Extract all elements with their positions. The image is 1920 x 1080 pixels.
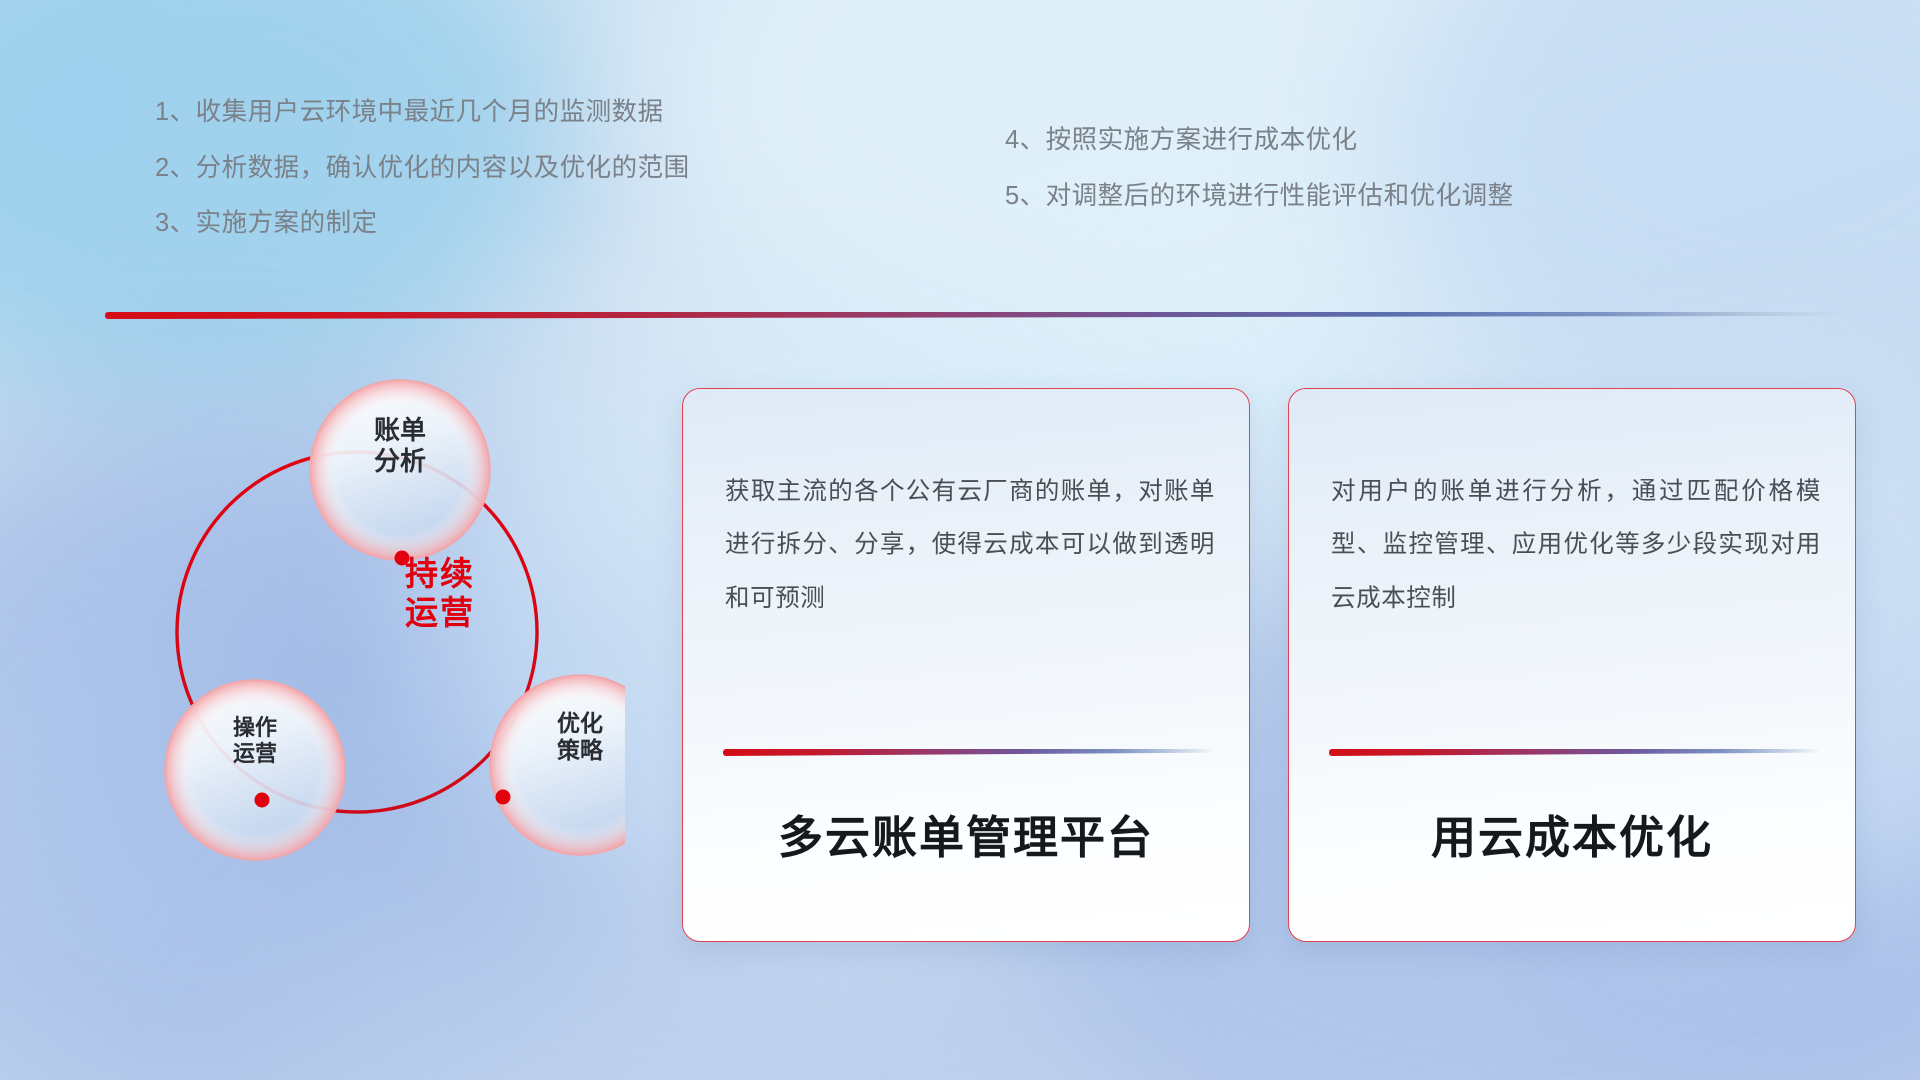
card-title: 用云成本优化	[1289, 801, 1855, 866]
step-item: 2、分析数据，确认优化的内容以及优化的范围	[155, 156, 690, 182]
steps-list-right: 4、按照实施方案进行成本优化 5、对调整后的环境进行性能评估和优化调整	[1005, 128, 1514, 239]
venn-label-strategy: 优化 策略	[515, 710, 645, 764]
venn-center-label-line2: 运营	[360, 594, 520, 633]
venn-bubble-strategy-halo	[490, 675, 625, 855]
venn-node-dot-left	[255, 793, 270, 808]
card-divider	[1329, 749, 1821, 756]
venn-center-label: 持续 运营	[360, 555, 520, 633]
steps-list-left: 1、收集用户云环境中最近几个月的监测数据 2、分析数据，确认优化的内容以及优化的…	[155, 100, 690, 267]
venn-label-strategy-line2: 策略	[515, 737, 645, 764]
slide-canvas: 1、收集用户云环境中最近几个月的监测数据 2、分析数据，确认优化的内容以及优化的…	[0, 0, 1920, 1080]
card-divider	[723, 749, 1215, 756]
card-title: 多云账单管理平台	[683, 801, 1249, 866]
venn-label-ops-line2: 运营	[190, 741, 320, 767]
card-multicloud-billing[interactable]: 获取主流的各个公有云厂商的账单，对账单进行拆分、分享，使得云成本可以做到透明和可…	[682, 388, 1250, 942]
venn-diagram: 账单 分析 操作 运营 优化 策略 持续 运营	[95, 340, 625, 960]
card-body-text: 对用户的账单进行分析，通过匹配价格模型、监控管理、应用优化等多少段实现对用云成本…	[1331, 465, 1821, 625]
venn-center-label-line1: 持续	[360, 555, 520, 594]
step-item: 4、按照实施方案进行成本优化	[1005, 128, 1514, 154]
venn-bubble-ops-halo	[165, 680, 345, 860]
card-cost-optimization[interactable]: 对用户的账单进行分析，通过匹配价格模型、监控管理、应用优化等多少段实现对用云成本…	[1288, 388, 1856, 942]
section-divider	[105, 312, 1845, 319]
venn-label-ops-line1: 操作	[190, 715, 320, 741]
step-item: 1、收集用户云环境中最近几个月的监测数据	[155, 100, 690, 126]
venn-label-bill: 账单 分析	[335, 415, 465, 476]
venn-label-ops: 操作 运营	[190, 715, 320, 767]
step-item: 5、对调整后的环境进行性能评估和优化调整	[1005, 184, 1514, 210]
venn-node-dot-right	[496, 790, 511, 805]
step-item: 3、实施方案的制定	[155, 211, 690, 237]
card-body-text: 获取主流的各个公有云厂商的账单，对账单进行拆分、分享，使得云成本可以做到透明和可…	[725, 465, 1215, 625]
venn-label-bill-line1: 账单	[335, 415, 465, 446]
venn-label-strategy-line1: 优化	[515, 710, 645, 737]
venn-label-bill-line2: 分析	[335, 446, 465, 477]
